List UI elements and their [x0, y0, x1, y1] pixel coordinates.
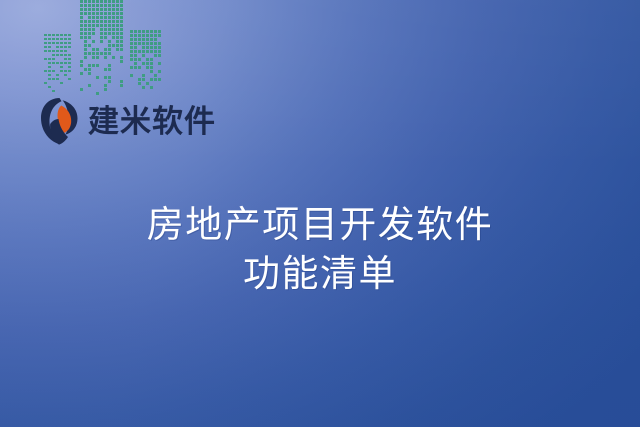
- slide-title-line-1: 房地产项目开发软件: [0, 200, 640, 249]
- pixel-skyline-icon: [44, 0, 174, 96]
- slide-canvas: 建米软件 房地产项目开发软件 功能清单: [0, 0, 640, 427]
- slide-title: 房地产项目开发软件 功能清单: [0, 200, 640, 298]
- brand-logo: 建米软件: [38, 96, 216, 146]
- skyline-tower-center: [80, 0, 124, 96]
- slide-title-line-2: 功能清单: [0, 249, 640, 298]
- brand-wordmark: 建米软件: [88, 107, 216, 138]
- jianmi-shield-logo-icon: [38, 97, 82, 145]
- skyline-tower-right: [130, 30, 164, 96]
- skyline-tower-left: [44, 34, 74, 96]
